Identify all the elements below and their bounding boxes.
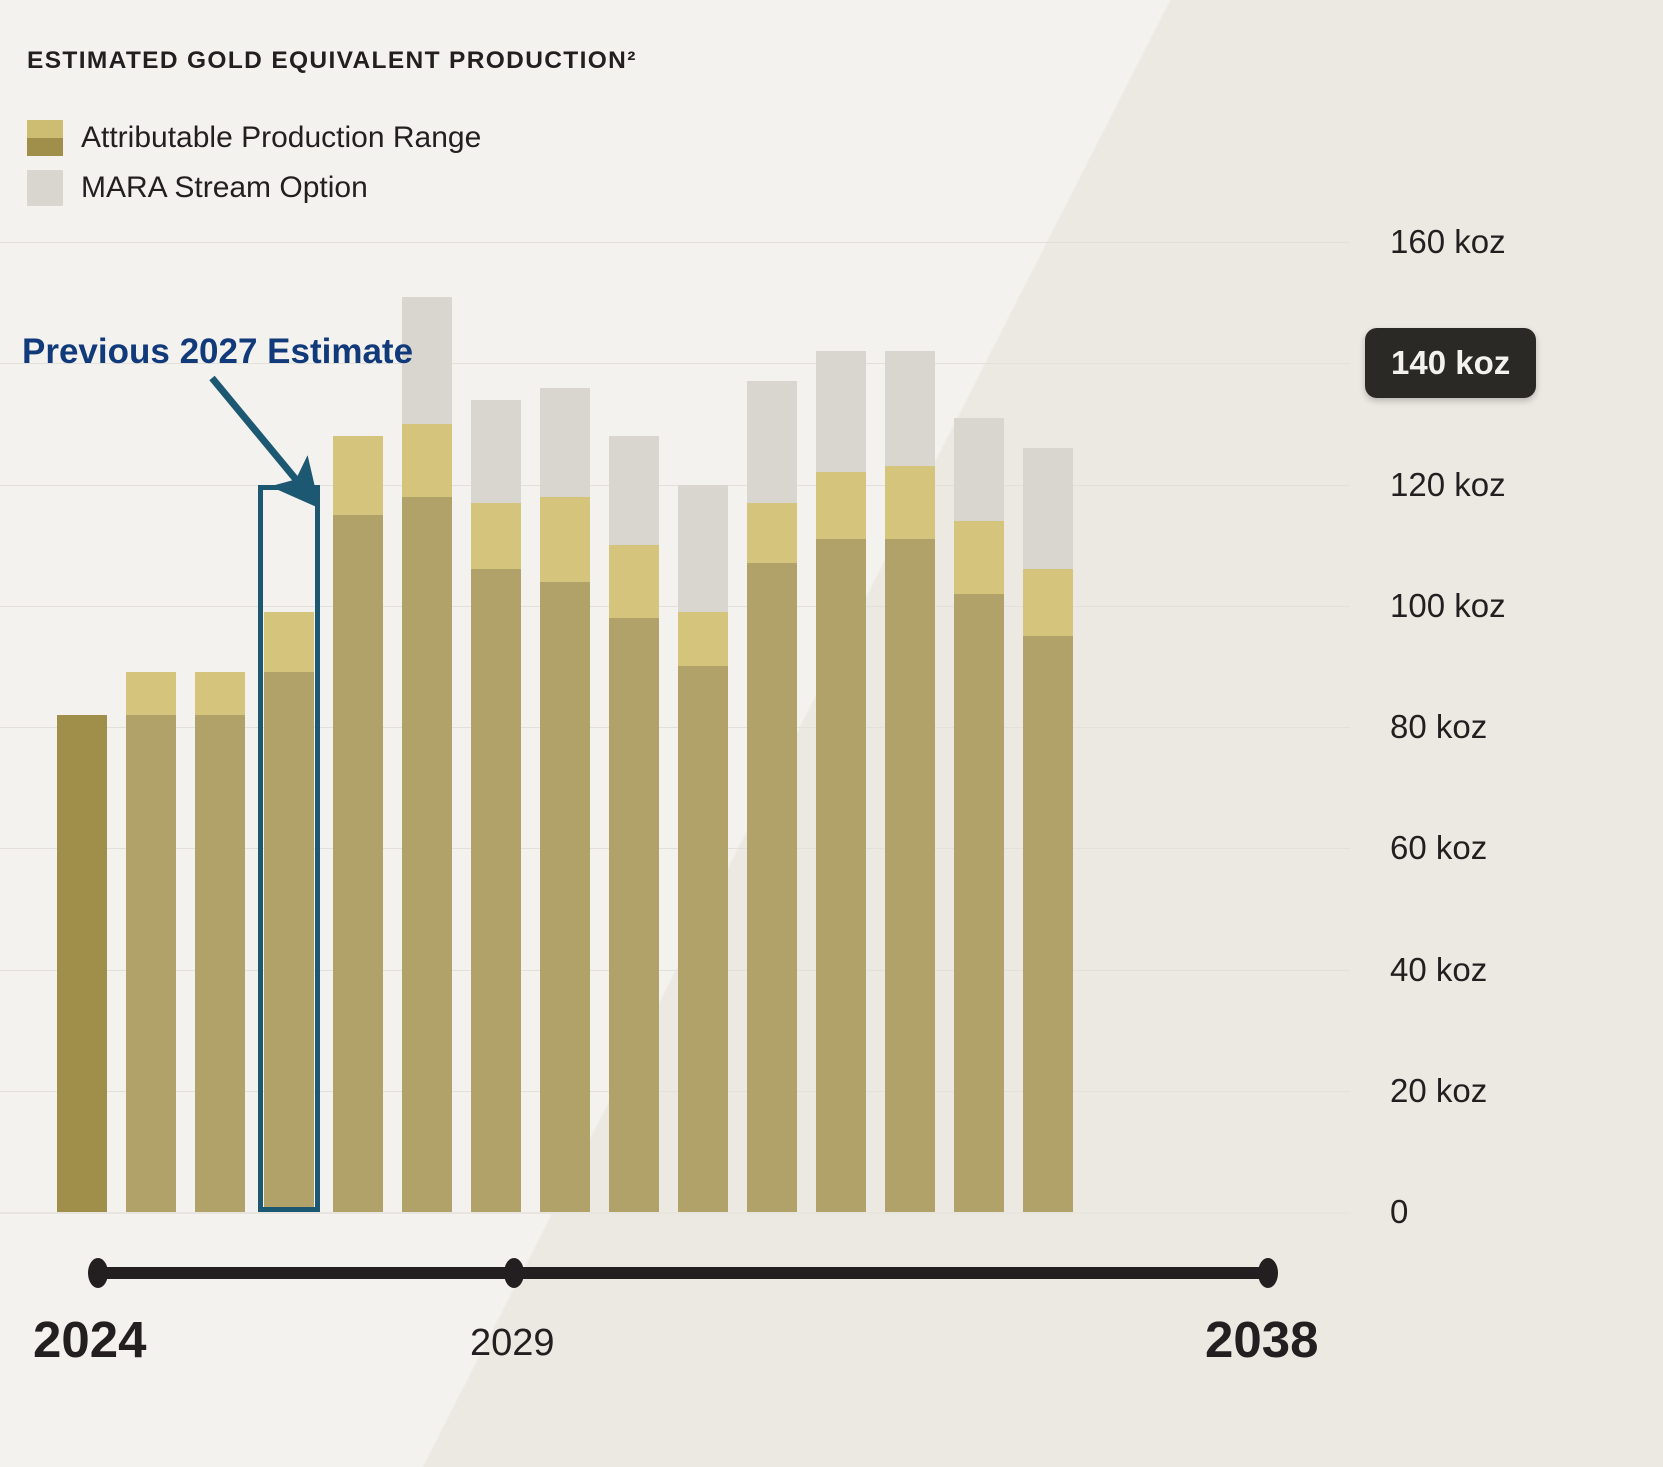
timeline-year-start: 2024 — [33, 1310, 146, 1369]
bar-segment-range-high-2030 — [471, 503, 521, 570]
bar-2038[interactable] — [1023, 448, 1073, 1212]
bar-segment-mara-stream-2031 — [540, 388, 590, 497]
bar-segment-range-high-2033 — [678, 612, 728, 667]
legend-item-attributable-production-range: Attributable Production Range — [27, 113, 481, 163]
gridline-160 — [0, 242, 1350, 243]
bar-2036[interactable] — [885, 351, 935, 1212]
bar-2032[interactable] — [609, 436, 659, 1212]
bar-2028[interactable] — [333, 436, 383, 1212]
chart-title: ESTIMATED GOLD EQUIVALENT PRODUCTION² — [27, 47, 637, 75]
timeline-dot-mid — [504, 1258, 524, 1288]
bar-segment-mara-stream-2032 — [609, 436, 659, 545]
legend-swatch-gray-icon — [27, 170, 63, 206]
bar-segment-range-low-2026 — [195, 715, 245, 1212]
bar-segment-range-high-2025 — [126, 672, 176, 714]
timeline-year-mid: 2029 — [470, 1322, 555, 1365]
legend-item-mara-stream-option: MARA Stream Option — [27, 163, 481, 213]
bar-segment-range-low-2032 — [609, 618, 659, 1212]
bar-segment-mara-stream-2033 — [678, 485, 728, 612]
legend-label-attributable-production-range: Attributable Production Range — [81, 123, 481, 153]
bar-segment-mara-stream-2037 — [954, 418, 1004, 521]
bar-segment-range-high-2029 — [402, 424, 452, 497]
bar-segment-range-high-2032 — [609, 545, 659, 618]
chart-legend: Attributable Production Range MARA Strea… — [27, 113, 481, 213]
bar-segment-range-low-2034 — [747, 563, 797, 1212]
annotation-arrow-icon — [200, 370, 340, 520]
bar-segment-range-low-2038 — [1023, 636, 1073, 1212]
y-axis-tick-140: 140 koz — [1365, 328, 1536, 398]
bar-2037[interactable] — [954, 418, 1004, 1212]
bar-segment-range-low-2031 — [540, 582, 590, 1213]
y-axis-tick-120: 120 koz — [1390, 466, 1506, 504]
bar-2026[interactable] — [195, 672, 245, 1212]
bar-segment-range-low-2030 — [471, 569, 521, 1212]
y-axis-tick-60: 60 koz — [1390, 829, 1487, 867]
legend-swatch-split-gold-icon — [27, 120, 63, 156]
bar-segment-range-high-2028 — [333, 436, 383, 515]
timeline-dot-start — [88, 1258, 108, 1288]
bar-segment-range-high-2036 — [885, 466, 935, 539]
bar-2034[interactable] — [747, 381, 797, 1212]
bar-segment-range-low-2036 — [885, 539, 935, 1212]
timeline — [0, 1258, 1350, 1318]
bar-segment-range-low-2029 — [402, 497, 452, 1212]
bar-2029[interactable] — [402, 297, 452, 1212]
bar-segment-range-high-2035 — [816, 472, 866, 539]
bar-2025[interactable] — [126, 672, 176, 1212]
y-axis: 020 koz40 koz60 koz80 koz100 koz120 koz1… — [1385, 0, 1663, 1467]
bar-segment-mara-stream-2035 — [816, 351, 866, 472]
bar-segment-range-low-2033 — [678, 666, 728, 1212]
timeline-year-end: 2038 — [1205, 1310, 1318, 1369]
timeline-dot-end — [1258, 1258, 1278, 1288]
bar-2033[interactable] — [678, 485, 728, 1213]
bar-segment-range-low-2028 — [333, 515, 383, 1212]
bar-segment-range-high-2037 — [954, 521, 1004, 594]
bar-segment-range-high-2038 — [1023, 569, 1073, 636]
y-axis-tick-0: 0 — [1390, 1193, 1408, 1231]
bar-segment-range-high-2031 — [540, 497, 590, 582]
x-axis-baseline — [0, 1212, 1350, 1214]
bar-2030[interactable] — [471, 400, 521, 1212]
legend-label-mara-stream-option: MARA Stream Option — [81, 173, 368, 203]
bar-segment-mara-stream-2036 — [885, 351, 935, 466]
bar-segment-mara-stream-2038 — [1023, 448, 1073, 569]
y-axis-tick-160: 160 koz — [1390, 223, 1506, 261]
bar-2031[interactable] — [540, 388, 590, 1213]
y-axis-tick-100: 100 koz — [1390, 587, 1506, 625]
gridline-100 — [0, 606, 1350, 607]
annotation-previous-2027-estimate-label: Previous 2027 Estimate — [22, 332, 413, 372]
bar-2024[interactable] — [57, 715, 107, 1212]
y-axis-tick-40: 40 koz — [1390, 951, 1487, 989]
bar-segment-mara-stream-2034 — [747, 381, 797, 502]
previous-estimate-highlight-box — [258, 485, 320, 1213]
bar-segment-range-high-2034 — [747, 503, 797, 564]
bar-2035[interactable] — [816, 351, 866, 1212]
bar-segment-range-low-2035 — [816, 539, 866, 1212]
y-axis-tick-20: 20 koz — [1390, 1072, 1487, 1110]
timeline-track — [95, 1267, 1275, 1279]
bar-segment-range-low-2037 — [954, 594, 1004, 1212]
bar-segment-range-low-2025 — [126, 715, 176, 1212]
bar-segment-mara-stream-2030 — [471, 400, 521, 503]
bar-segment-range-low-2024 — [57, 715, 107, 1212]
y-axis-tick-80: 80 koz — [1390, 708, 1487, 746]
bar-segment-range-high-2026 — [195, 672, 245, 714]
